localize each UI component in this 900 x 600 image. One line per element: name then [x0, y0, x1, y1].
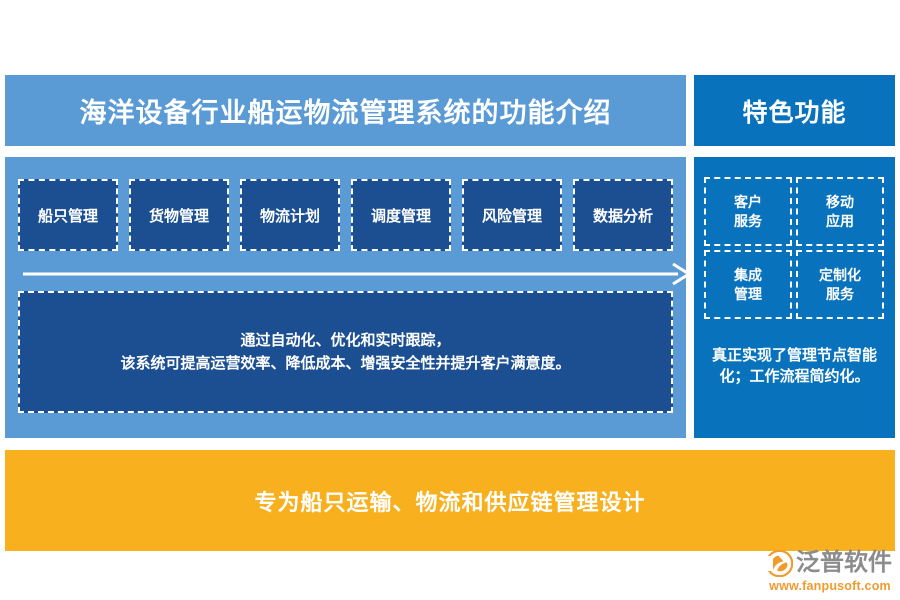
feature-box-risk-management[interactable]: 风险管理 [462, 179, 562, 251]
feature-box-label: 调度管理 [371, 205, 431, 226]
sidebar-box-custom-service[interactable]: 定制化 服务 [796, 250, 884, 319]
sidebar-title: 特色功能 [742, 93, 846, 129]
sidebar-box-mobile-app[interactable]: 移动 应用 [796, 177, 884, 246]
page-title: 海洋设备行业船运物流管理系统的功能介绍 [80, 91, 612, 130]
sidebar-box-label: 客户 服务 [734, 193, 762, 231]
sidebar-box-customer-service[interactable]: 客户 服务 [704, 177, 792, 246]
sidebar-box-integration-management[interactable]: 集成 管理 [704, 250, 792, 319]
side-title-bar: 特色功能 [694, 75, 895, 146]
footer-text: 专为船只运输、物流和供应链管理设计 [254, 485, 645, 517]
sidebar-box-label: 集成 管理 [734, 266, 762, 304]
infographic-root: 海洋设备行业船运物流管理系统的功能介绍 特色功能 船只管理 货物管理 物流计划 … [0, 0, 900, 600]
description-line-2: 该系统可提高运营效率、降低成本、增强安全性并提升客户满意度。 [120, 352, 570, 375]
feature-box-label: 风险管理 [482, 205, 542, 226]
feature-box-label: 船只管理 [38, 205, 98, 226]
sidebar-caption: 真正实现了管理节点智能化；工作流程简约化。 [700, 345, 889, 387]
main-title-bar: 海洋设备行业船运物流管理系统的功能介绍 [5, 75, 686, 146]
feature-box-logistics-plan[interactable]: 物流计划 [240, 179, 340, 251]
description-box: 通过自动化、优化和实时跟踪， 该系统可提高运营效率、降低成本、增强安全性并提升客… [18, 291, 673, 413]
sidebar-box-label: 定制化 服务 [819, 266, 861, 304]
sidebar-box-list: 客户 服务 移动 应用 集成 管理 定制化 服务 [704, 177, 885, 319]
feature-box-cargo-management[interactable]: 货物管理 [129, 179, 229, 251]
description-text: 通过自动化、优化和实时跟踪， 该系统可提高运营效率、降低成本、增强安全性并提升客… [104, 329, 586, 376]
logo-row: 泛普软件 [766, 548, 894, 578]
feature-box-dispatch-management[interactable]: 调度管理 [351, 179, 451, 251]
header-row: 海洋设备行业船运物流管理系统的功能介绍 特色功能 [5, 75, 895, 146]
right-arrow-icon [23, 261, 691, 287]
feature-box-label: 数据分析 [593, 205, 653, 226]
body-row: 船只管理 货物管理 物流计划 调度管理 风险管理 数据分析 [5, 157, 895, 438]
feature-box-data-analysis[interactable]: 数据分析 [573, 179, 673, 251]
footer-bar: 专为船只运输、物流和供应链管理设计 [5, 450, 895, 551]
feature-box-list: 船只管理 货物管理 物流计划 调度管理 风险管理 数据分析 [18, 179, 673, 251]
description-line-1: 通过自动化、优化和实时跟踪， [120, 329, 570, 352]
sidebar-panel: 客户 服务 移动 应用 集成 管理 定制化 服务 真正实现了管理节点智能化；工作… [694, 157, 895, 438]
main-panel: 船只管理 货物管理 物流计划 调度管理 风险管理 数据分析 [5, 157, 686, 438]
feature-box-label: 物流计划 [260, 205, 320, 226]
logo-url: www.fanpusoft.com [766, 579, 894, 593]
brand-logo: 泛普软件 www.fanpusoft.com [766, 548, 894, 594]
feature-box-label: 货物管理 [149, 205, 209, 226]
feature-box-vessel-management[interactable]: 船只管理 [18, 179, 118, 251]
logo-name: 泛普软件 [796, 551, 892, 575]
fanpu-swoosh-icon [766, 550, 793, 577]
sidebar-box-label: 移动 应用 [826, 193, 854, 231]
